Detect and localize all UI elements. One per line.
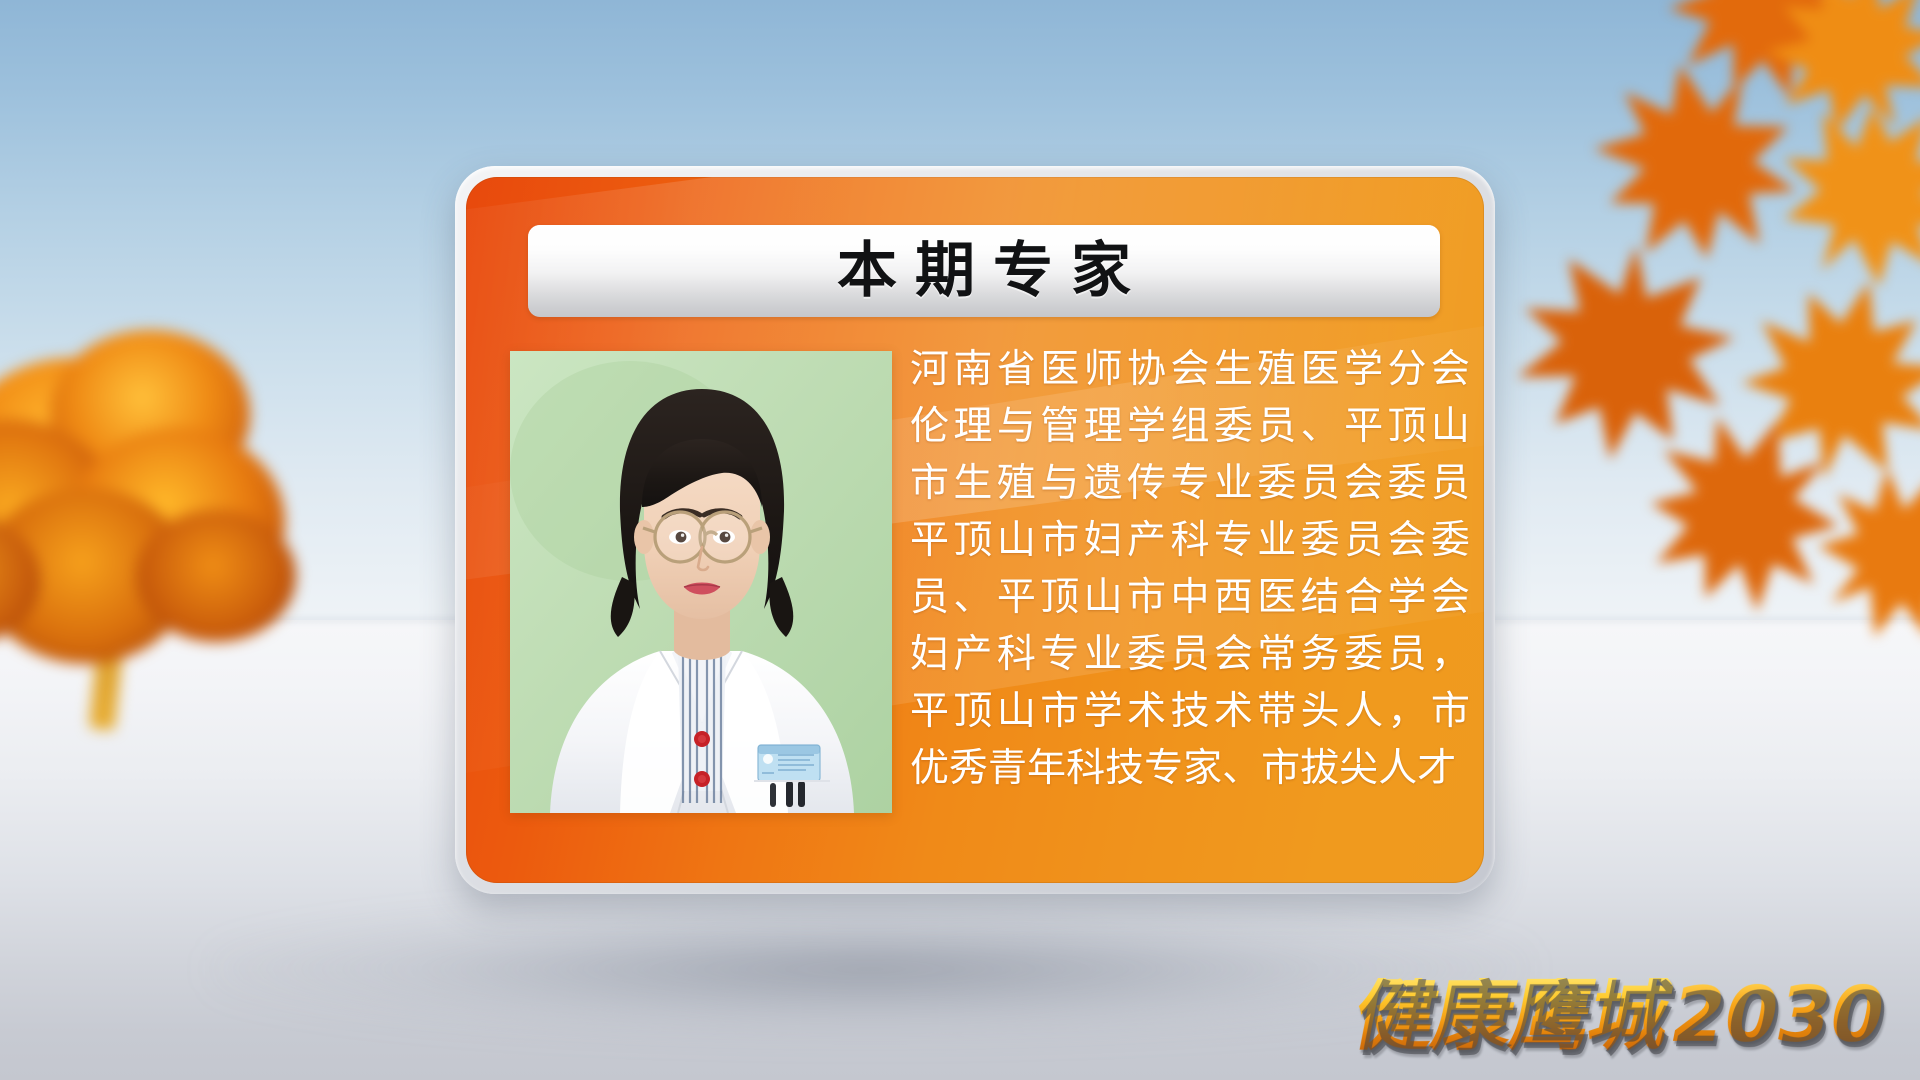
bio-char: 员	[1387, 626, 1426, 683]
bio-char: 才	[1417, 740, 1456, 797]
bio-char: 理	[953, 398, 992, 455]
bio-char: 西	[1214, 569, 1253, 626]
bio-char: 与	[1040, 455, 1079, 512]
bio-char: 山	[997, 512, 1036, 569]
bio-char: 业	[1214, 455, 1253, 512]
bio-char: ，	[1431, 626, 1470, 683]
bio-char: 、	[1222, 740, 1261, 797]
bio-line: 平顶山市妇产科专业委员会委	[910, 512, 1470, 569]
bio-char: 平	[997, 569, 1036, 626]
bio-line: 妇产科专业委员会常务委员，	[910, 626, 1470, 683]
expert-portrait-photo	[510, 351, 892, 813]
bio-char: 家	[1183, 740, 1222, 797]
bio-char: 市	[910, 455, 949, 512]
bio-char: 市	[1040, 512, 1079, 569]
bio-char: 产	[953, 626, 992, 683]
bio-char: 术	[1127, 683, 1166, 740]
bio-char: 管	[1040, 398, 1079, 455]
bio-char: ，	[1387, 683, 1426, 740]
bio-char: 省	[997, 341, 1036, 398]
bio-char: 学	[1084, 683, 1123, 740]
bio-char: 委	[1344, 626, 1383, 683]
bio-char: 产	[1127, 512, 1166, 569]
bio-char: 优	[910, 740, 949, 797]
bio-char: 遗	[1084, 455, 1123, 512]
expert-title-banner: 本期专家	[528, 225, 1440, 317]
bio-char: 科	[997, 626, 1036, 683]
bio-line: 优秀青年科技专家、市拔尖人才	[910, 740, 1470, 797]
bio-char: 委	[1301, 512, 1340, 569]
bio-char: 人	[1344, 683, 1383, 740]
bio-char: 结	[1301, 569, 1340, 626]
bio-char: 妇	[910, 626, 949, 683]
bio-char: 组	[1170, 398, 1209, 455]
bio-char: 会	[1214, 626, 1253, 683]
bio-char: 、	[1301, 398, 1340, 455]
bio-char: 业	[1257, 512, 1296, 569]
bio-char: 南	[953, 341, 992, 398]
bio-char: 会	[1431, 569, 1470, 626]
bio-char: 技	[1105, 740, 1144, 797]
page-title: 本期专家	[819, 241, 1149, 301]
bio-char: 市	[1127, 569, 1166, 626]
program-logo: 健康鹰城 2030	[1349, 978, 1891, 1052]
bio-char: 年	[1027, 740, 1066, 797]
bio-line: 市生殖与遗传专业委员会委员	[910, 455, 1470, 512]
bio-line: 平顶山市学术技术带头人，市	[910, 683, 1470, 740]
bio-line: 员、平顶山市中西医结合学会	[910, 569, 1470, 626]
bio-char: 平	[910, 683, 949, 740]
bio-char: 会	[1387, 512, 1426, 569]
bio-char: 术	[1214, 683, 1253, 740]
bio-char: 医	[1040, 341, 1079, 398]
bio-char: 秀	[949, 740, 988, 797]
bio-char: 尖	[1339, 740, 1378, 797]
bio-char: 顶	[1387, 398, 1426, 455]
bio-char: 委	[1387, 455, 1426, 512]
bio-char: 会	[1344, 455, 1383, 512]
bio-char: 中	[1170, 569, 1209, 626]
bio-char: 委	[1127, 626, 1166, 683]
bio-char: 合	[1344, 569, 1383, 626]
expert-info-card: 本期专家	[455, 166, 1495, 894]
bio-char: 专	[1144, 740, 1183, 797]
bio-char: 委	[1214, 398, 1253, 455]
expert-card-body: 本期专家	[466, 177, 1484, 883]
bio-char: 师	[1084, 341, 1123, 398]
bio-char: 伦	[910, 398, 949, 455]
bio-char: 员	[1257, 398, 1296, 455]
bio-char: 头	[1301, 683, 1340, 740]
bio-char: 理	[1084, 398, 1123, 455]
bio-char: 会	[1170, 341, 1209, 398]
program-logo-year: 2030	[1666, 980, 1891, 1050]
bio-char: 常	[1257, 626, 1296, 683]
bio-char: 殖	[997, 455, 1036, 512]
bio-char: 分	[1387, 341, 1426, 398]
bio-char: 山	[997, 683, 1036, 740]
bio-char: 平	[910, 512, 949, 569]
card-content-row: 河南省医师协会生殖医学分会 伦理与管理学组委员、平顶山 市生殖与遗传专业委员会委…	[466, 329, 1484, 883]
bio-char: 市	[1261, 740, 1300, 797]
portrait-illustration	[510, 351, 892, 813]
bio-char: 人	[1378, 740, 1417, 797]
bio-char: 顶	[953, 683, 992, 740]
bio-char: 学	[1127, 398, 1166, 455]
bio-char: 山	[1431, 398, 1470, 455]
bio-char: 员	[910, 569, 949, 626]
bio-char: 市	[1431, 683, 1470, 740]
broadcast-lower-third-stage: 本期专家	[0, 0, 1920, 1080]
bio-char: 委	[1431, 512, 1470, 569]
bio-char: 会	[1431, 341, 1470, 398]
bio-char: 员	[1344, 512, 1383, 569]
bio-char: 委	[1257, 455, 1296, 512]
bio-char: 拔	[1300, 740, 1339, 797]
bio-char: 传	[1127, 455, 1166, 512]
bio-char: 生	[953, 455, 992, 512]
bio-char: 务	[1301, 626, 1340, 683]
bio-char: 科	[1066, 740, 1105, 797]
bio-char: 员	[1170, 626, 1209, 683]
bio-char: 顶	[1040, 569, 1079, 626]
bio-char: 平	[1344, 398, 1383, 455]
bio-char: 专	[1214, 512, 1253, 569]
bio-char: 技	[1170, 683, 1209, 740]
bio-line: 伦理与管理学组委员、平顶山	[910, 398, 1470, 455]
bio-char: 生	[1214, 341, 1253, 398]
bio-char: 山	[1084, 569, 1123, 626]
bio-char: 专	[1040, 626, 1079, 683]
bio-char: 学	[1387, 569, 1426, 626]
card-drop-shadow	[210, 900, 1530, 1050]
bio-char: 殖	[1257, 341, 1296, 398]
autumn-tree	[0, 300, 360, 720]
bio-char: 学	[1344, 341, 1383, 398]
bio-char: 科	[1170, 512, 1209, 569]
program-logo-chinese: 健康鹰城	[1349, 978, 1675, 1052]
bio-char: 专	[1170, 455, 1209, 512]
bio-char: 协	[1127, 341, 1166, 398]
bio-char: 青	[988, 740, 1027, 797]
expert-bio-text: 河南省医师协会生殖医学分会 伦理与管理学组委员、平顶山 市生殖与遗传专业委员会委…	[910, 341, 1470, 797]
bio-char: 妇	[1084, 512, 1123, 569]
bio-char: 顶	[953, 512, 992, 569]
bio-char: 员	[1301, 455, 1340, 512]
bio-line: 河南省医师协会生殖医学分会	[910, 341, 1470, 398]
bio-char: 医	[1257, 569, 1296, 626]
bio-char: 、	[953, 569, 992, 626]
bio-char: 市	[1040, 683, 1079, 740]
bio-char: 业	[1084, 626, 1123, 683]
bio-char: 带	[1257, 683, 1296, 740]
bio-char: 员	[1431, 455, 1470, 512]
bio-char: 与	[997, 398, 1036, 455]
bio-char: 河	[910, 341, 949, 398]
bio-char: 医	[1301, 341, 1340, 398]
